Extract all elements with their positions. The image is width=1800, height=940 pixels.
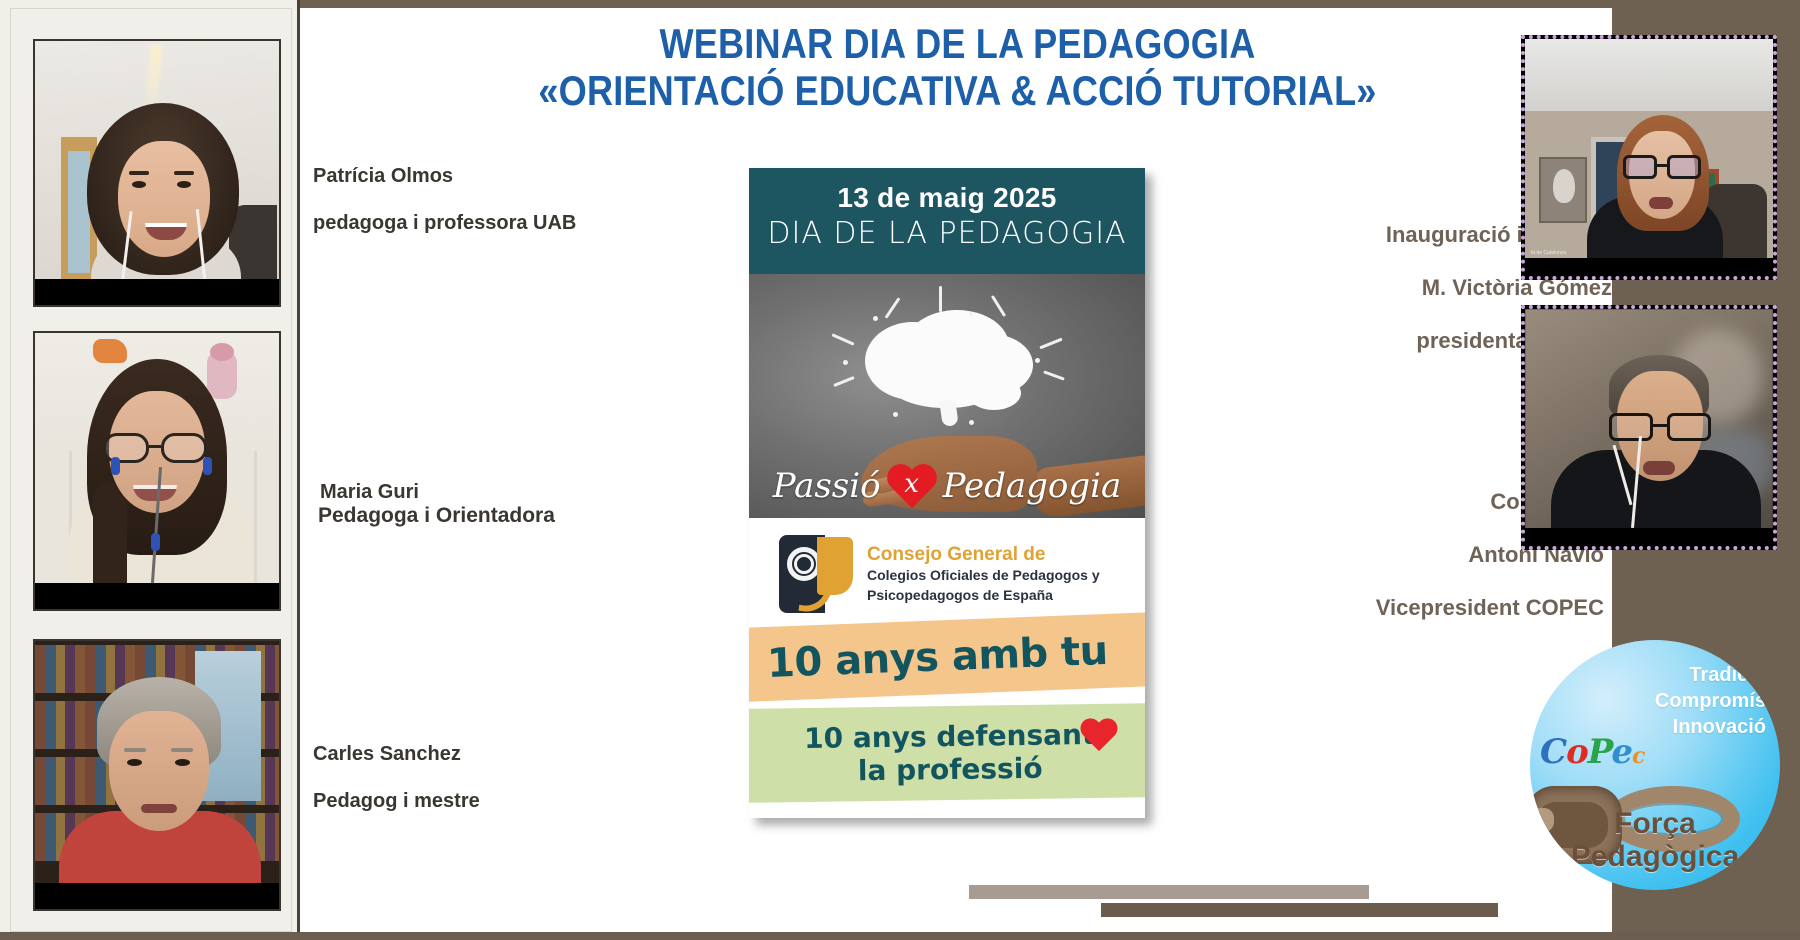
heart-x-label: x bbox=[885, 461, 939, 511]
anniversary-line1: 10 anys defensant bbox=[804, 718, 1096, 755]
speaker-role: pedagoga i professora UAB bbox=[313, 212, 576, 234]
speaker-name: Carles Sanchez bbox=[313, 743, 461, 765]
video-frame bbox=[35, 333, 279, 609]
wordmark-c2: c bbox=[1632, 743, 1644, 769]
wall-decoration-elephant bbox=[207, 351, 237, 399]
ceiling bbox=[1525, 39, 1773, 111]
heart-icon: x bbox=[885, 461, 939, 511]
progress-bar-light[interactable] bbox=[969, 885, 1369, 899]
person-face bbox=[109, 711, 209, 831]
event-poster: 13 de maig 2025 DIA DE LA PEDAGOGIA bbox=[749, 168, 1145, 818]
copec-motto-line1: Força bbox=[1614, 807, 1696, 840]
glasses-bridge bbox=[149, 445, 161, 448]
copec-wordmark: CoPec bbox=[1540, 732, 1644, 772]
participant-sidebar bbox=[0, 0, 300, 940]
eye-left bbox=[132, 181, 146, 188]
participant-video-carles[interactable] bbox=[33, 639, 281, 911]
video-letterbox bbox=[35, 883, 279, 909]
person-hair-side bbox=[93, 483, 127, 599]
video-letterbox bbox=[35, 279, 279, 305]
copec-motto-line2: Pedagògica bbox=[1571, 840, 1739, 873]
wall-portrait bbox=[1539, 157, 1587, 223]
heart-icon-anniversary bbox=[1079, 716, 1119, 753]
consejo-emblem-icon bbox=[779, 535, 853, 613]
mouth bbox=[1643, 461, 1675, 475]
video-frame bbox=[35, 641, 279, 909]
glasses-bridge bbox=[1653, 424, 1667, 427]
slide-title-line1: WEBINAR DIA DE LA PEDAGOGIA bbox=[395, 20, 1521, 67]
slide-title: WEBINAR DIA DE LA PEDAGOGIA «ORIENTACIÓ … bbox=[395, 20, 1521, 114]
speaker-label-carles: Carles Sanchez Pedagog i mestre bbox=[313, 720, 480, 813]
lens-right bbox=[1667, 413, 1711, 441]
eyebrow-left bbox=[124, 748, 146, 752]
tagline-passio: Passió bbox=[773, 466, 881, 506]
consejo-line1: Consejo General de bbox=[867, 544, 1045, 565]
bottom-strip bbox=[0, 932, 1800, 940]
eyebrow-right bbox=[174, 171, 194, 175]
video-letterbox bbox=[1525, 258, 1773, 276]
eyebrow-left bbox=[129, 171, 149, 175]
wordmark-c1: C bbox=[1540, 732, 1566, 772]
earbud-left bbox=[111, 457, 120, 475]
poster-date: 13 de maig 2025 bbox=[749, 182, 1145, 214]
wordmark-o: o bbox=[1566, 732, 1588, 772]
copec-slogan: Tradició Compromís Innovació bbox=[1530, 662, 1766, 740]
video-frame bbox=[35, 41, 279, 305]
earbud-clip bbox=[151, 533, 160, 551]
eye-right bbox=[175, 759, 190, 766]
participant-video-victoria[interactable]: ta de Catalunya. bbox=[1521, 35, 1777, 280]
participant-video-maria[interactable] bbox=[33, 331, 281, 611]
poster-tagline: Passió x Pedagogia bbox=[749, 454, 1145, 518]
lens-right bbox=[161, 433, 207, 463]
eyeglasses bbox=[1609, 413, 1713, 441]
video-letterbox bbox=[1525, 528, 1773, 546]
slide-canvas: WEBINAR DIA DE LA PEDAGOGIA «ORIENTACIÓ … bbox=[303, 8, 1612, 932]
wordmark-p: P bbox=[1588, 732, 1612, 772]
copec-logo: Tradició Compromís Innovació CoPec Força… bbox=[1530, 640, 1780, 890]
speaker-name: Maria Guri bbox=[320, 481, 419, 503]
copec-motto: ForçaPedagògica bbox=[1530, 807, 1780, 874]
lens-left bbox=[1623, 155, 1657, 179]
participant-sidebar-inner bbox=[10, 8, 292, 932]
eye-right bbox=[177, 181, 191, 188]
eye-left bbox=[127, 759, 142, 766]
video-overlay-caption: ta de Catalunya. bbox=[1531, 250, 1567, 256]
progress-bar-dark[interactable] bbox=[1101, 903, 1498, 917]
anniversary-text: 10 anys amb tu bbox=[766, 628, 1108, 687]
lens-left bbox=[1609, 413, 1653, 441]
video-letterbox bbox=[35, 583, 279, 609]
consejo-logo-text: Consejo General de Colegios Oficiales de… bbox=[867, 543, 1100, 605]
mouth bbox=[141, 804, 177, 813]
anniversary-band-orange: 10 anys amb tu bbox=[749, 612, 1145, 702]
video-frame bbox=[1525, 309, 1773, 546]
speaker-label-maria: Maria Guri Pedagoga i Orientadora bbox=[320, 458, 555, 552]
speaker-role: Pedagog i mestre bbox=[313, 790, 480, 812]
speaker-title: Vicepresident COPEC bbox=[1376, 595, 1604, 620]
top-strip bbox=[300, 0, 1612, 8]
lens-right bbox=[1667, 155, 1701, 179]
poster-header: 13 de maig 2025 DIA DE LA PEDAGOGIA bbox=[749, 168, 1145, 274]
consejo-line2: Colegios Oficiales de Pedagogos y bbox=[867, 567, 1100, 583]
slide-title-line2: «ORIENTACIÓ EDUCATIVA & ACCIÓ TUTORIAL» bbox=[395, 67, 1521, 114]
consejo-general-logo: Consejo General de Colegios Oficiales de… bbox=[749, 518, 1145, 630]
speaker-label-patricia: Patrícia Olmos pedagoga i professora UAB bbox=[313, 142, 576, 235]
video-frame: ta de Catalunya. bbox=[1525, 39, 1773, 276]
participant-video-patricia[interactable] bbox=[33, 39, 281, 307]
mouth bbox=[1649, 197, 1673, 209]
glasses-bridge bbox=[1657, 164, 1667, 167]
wordmark-e: e bbox=[1611, 732, 1632, 772]
wall-decoration-fox bbox=[93, 339, 127, 363]
presentation-stage: WEBINAR DIA DE LA PEDAGOGIA «ORIENTACIÓ … bbox=[0, 0, 1800, 940]
anniversary-line2: la professió bbox=[858, 752, 1043, 788]
eyebrow-right bbox=[171, 748, 193, 752]
consejo-line3: Psicopedagogos de España bbox=[867, 587, 1053, 603]
brain-illustration-icon bbox=[857, 308, 1037, 412]
poster-event-name: DIA DE LA PEDAGOGIA bbox=[749, 216, 1145, 251]
speaker-name: Patrícia Olmos bbox=[313, 165, 453, 187]
lens-left bbox=[103, 433, 149, 463]
earbud-right bbox=[203, 457, 212, 475]
tagline-pedagogia: Pedagogia bbox=[943, 466, 1122, 506]
eyeglasses bbox=[1623, 155, 1701, 179]
participant-video-antoni[interactable] bbox=[1521, 305, 1777, 550]
speaker-role: Pedagoga i Orientadora bbox=[318, 504, 555, 528]
